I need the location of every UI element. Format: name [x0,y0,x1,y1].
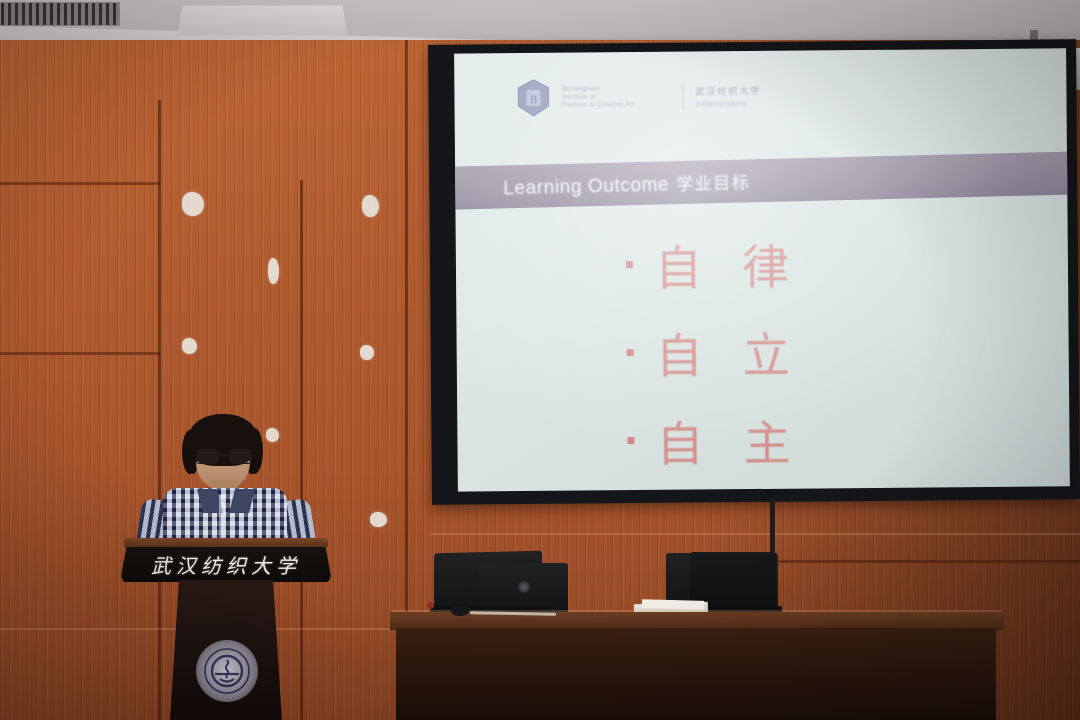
wall-seam [0,182,160,185]
tape-mark [266,428,279,442]
presentation-slide: B Birmingham Institute of Fashion & Crea… [454,48,1070,491]
wall-seam [158,100,161,720]
tape-mark [182,338,197,354]
eyeglasses-icon [196,449,250,462]
lecture-hall-scene: B Birmingham Institute of Fashion & Crea… [0,0,1080,720]
tape-mark [360,345,374,360]
tape-mark [370,512,387,527]
logo-chinese-name: 武汉纺织大学 伯明翰时尚创意学院 [695,84,805,109]
papers [642,599,704,610]
bullet-dot-icon [626,261,633,268]
shield-logo-icon: B [516,79,550,117]
logo-english-name: Birmingham Institute of Fashion & Creati… [562,85,670,110]
tape-mark [362,195,379,217]
bullet-dot-icon [627,437,634,444]
slide-bullet-item: 自律 [626,216,1047,308]
mouse-icon [451,606,469,616]
screen-hanging-rod [770,498,775,560]
projection-screen: B Birmingham Institute of Fashion & Crea… [428,39,1080,505]
lectern-front-panel: 武汉纺织大学 [120,547,332,582]
slide-logo: B Birmingham Institute of Fashion & Crea… [516,72,816,121]
tape-mark [182,192,204,216]
wall-seam [430,533,1080,535]
wall-seam [300,180,303,720]
screen-surface: B Birmingham Institute of Fashion & Crea… [454,48,1070,491]
slide-title: Learning Outcome学业目标 [503,168,750,200]
lectern-lip [124,538,328,548]
tape-mark [268,258,279,284]
presenter-table-front [396,628,996,720]
indicator-light [427,602,434,609]
slide-bullet-item: 自立 [626,304,1047,396]
air-vent-icon [0,2,120,26]
svg-text:B: B [530,95,537,106]
wall-seam [0,352,160,355]
bullet-dot-icon [627,349,634,356]
slide-title-band: Learning Outcome学业目标 [454,151,1070,210]
slide-bullet-list: 自律 自立 自主 [626,216,1048,484]
lectern-front-text: 武汉纺织大学 [120,547,332,582]
university-seal-icon [196,640,258,702]
slide-bullet-item: 自主 [627,392,1048,484]
ceiling-light-panel [177,6,347,36]
logo-divider [682,84,683,110]
